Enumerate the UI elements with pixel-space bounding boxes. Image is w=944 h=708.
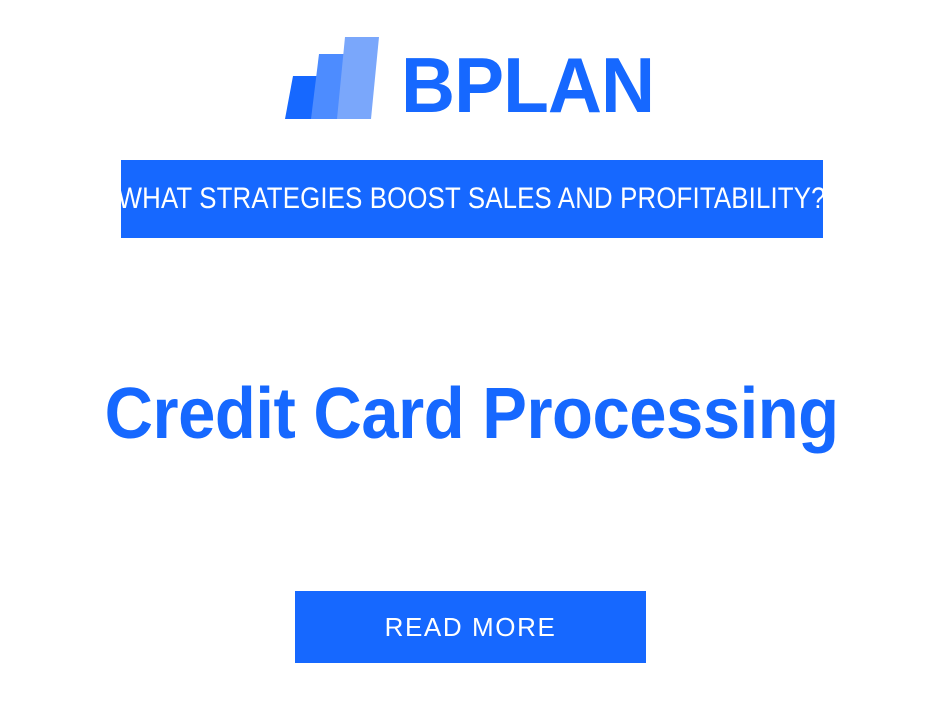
question-banner-text: WHAT STRATEGIES BOOST SALES AND PROFITAB… xyxy=(118,184,826,214)
promo-card: BPLAN WHAT STRATEGIES BOOST SALES AND PR… xyxy=(0,0,944,708)
read-more-button[interactable]: READ MORE xyxy=(295,591,646,663)
page-title-text: Credit Card Processing xyxy=(105,377,839,453)
question-banner: WHAT STRATEGIES BOOST SALES AND PROFITAB… xyxy=(121,160,823,238)
brand-logo: BPLAN xyxy=(0,25,944,120)
page-title: Credit Card Processing xyxy=(0,372,944,458)
ascending-bars-icon xyxy=(279,32,383,120)
brand-name: BPLAN xyxy=(401,54,654,120)
read-more-button-label: READ MORE xyxy=(385,614,557,640)
